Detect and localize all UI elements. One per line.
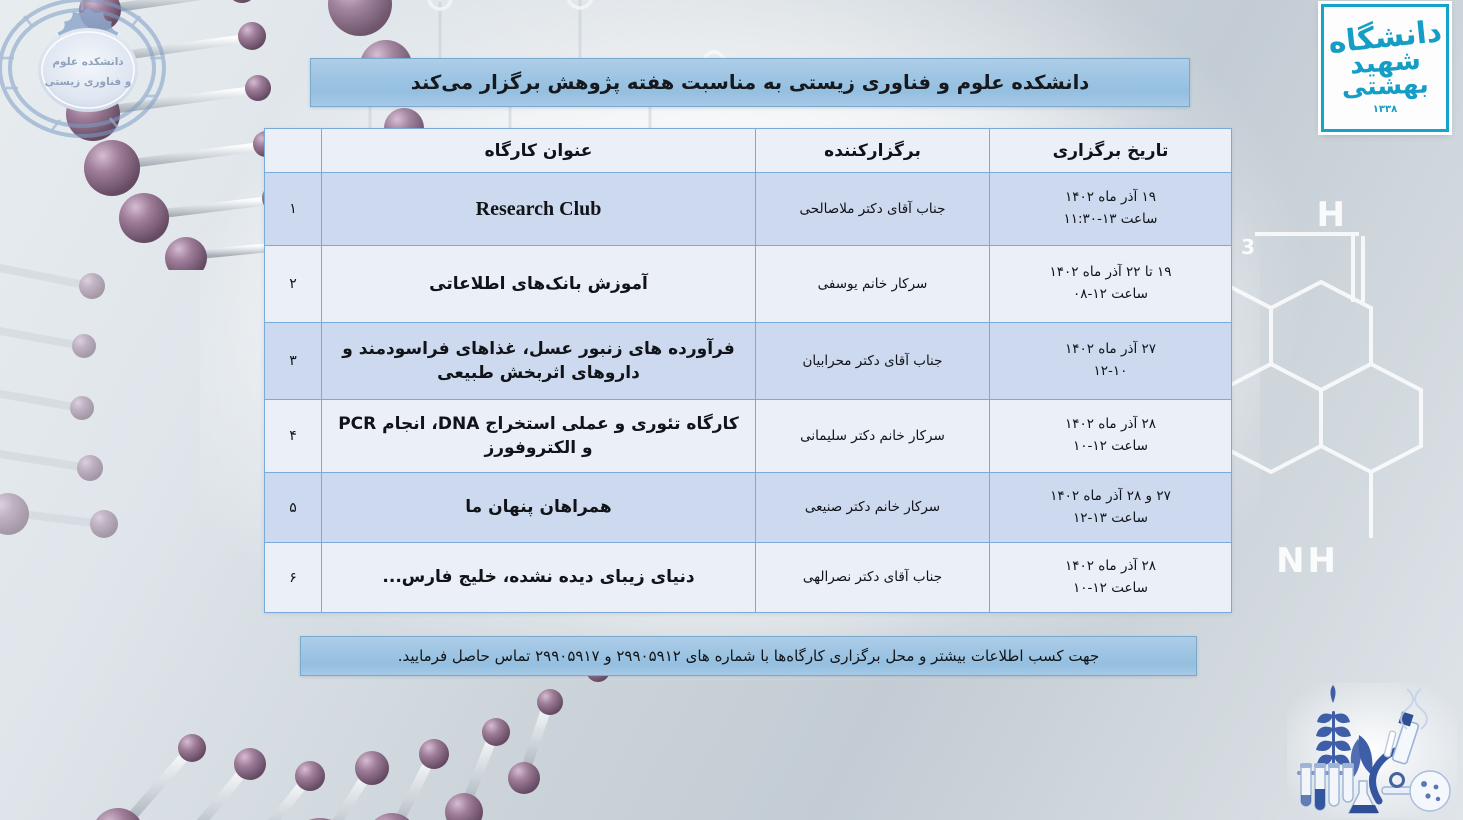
cell-date: ۲۸ آذر ماه ۱۴۰۲ ساعت ۱۲-۱۰ — [990, 400, 1232, 473]
cell-date: ۱۹ تا ۲۲ آذر ماه ۱۴۰۲ ساعت ۱۲-۰۸ — [990, 246, 1232, 323]
cell-presenter: سرکار خانم دکتر صنیعی — [756, 473, 990, 543]
date-line-2: ساعت ۱۲-۱۰ — [998, 578, 1223, 600]
biotech-illustration-logo — [1287, 683, 1457, 818]
column-header-presenter: برگزارکننده — [756, 129, 990, 173]
table-row: ۱۹ تا ۲۲ آذر ماه ۱۴۰۲ ساعت ۱۲-۰۸ سرکار خ… — [265, 246, 1232, 323]
date-line-2: ساعت ۱۳-۱۱:۳۰ — [998, 209, 1223, 231]
date-line-1: ۲۸ آذر ماه ۱۴۰۲ — [998, 556, 1223, 578]
table-row: ۲۸ آذر ماه ۱۴۰۲ ساعت ۱۲-۱۰ سرکار خانم دک… — [265, 400, 1232, 473]
cell-title: Research Club — [322, 173, 756, 246]
university-logo: دانشگاه شهید بهشتی ۱۳۳۸ — [1321, 4, 1449, 132]
faculty-seal-line2: و فناوری زیستی — [45, 76, 132, 88]
header-banner-text: دانشکده علوم و فناوری زیستی به مناسبت هف… — [411, 71, 1090, 94]
cell-title: دنیای زیبای دیده نشده، خلیج فارس... — [322, 543, 756, 613]
cell-date: ۱۹ آذر ماه ۱۴۰۲ ساعت ۱۳-۱۱:۳۰ — [990, 173, 1232, 246]
university-logo-year: ۱۳۳۸ — [1373, 105, 1397, 115]
column-header-date: تاریخ برگزاری — [990, 129, 1232, 173]
cell-row-number: ۳ — [265, 323, 322, 400]
cell-presenter: سرکار خانم یوسفی — [756, 246, 990, 323]
date-line-1: ۲۸ آذر ماه ۱۴۰۲ — [998, 414, 1223, 436]
table-row: ۲۷ آذر ماه ۱۴۰۲ ۱۲-۱۰ جناب آقای دکتر محر… — [265, 323, 1232, 400]
header-banner: دانشکده علوم و فناوری زیستی به مناسبت هف… — [310, 58, 1190, 107]
table-row: ۲۸ آذر ماه ۱۴۰۲ ساعت ۱۲-۱۰ جناب آقای دکت… — [265, 543, 1232, 613]
svg-text:NH: NH — [1276, 541, 1339, 581]
cell-row-number: ۲ — [265, 246, 322, 323]
column-header-num — [265, 129, 322, 173]
cell-presenter: جناب آقای دکتر نصرالهی — [756, 543, 990, 613]
cell-icon — [1410, 771, 1450, 811]
svg-text:H: H — [1317, 195, 1345, 235]
faculty-seal-logo: دانشکده علوم و فناوری زیستی — [12, 8, 164, 136]
footer-banner-text: جهت کسب اطلاعات بیشتر و محل برگزاری کارگ… — [398, 647, 1100, 665]
poster-canvas: CH 3 H NH — [0, 0, 1463, 820]
table-row: ۲۷ و ۲۸ آذر ماه ۱۴۰۲ ساعت ۱۳-۱۲ سرکار خا… — [265, 473, 1232, 543]
table-row: ۱۹ آذر ماه ۱۴۰۲ ساعت ۱۳-۱۱:۳۰ جناب آقای … — [265, 173, 1232, 246]
date-line-1: ۲۷ و ۲۸ آذر ماه ۱۴۰۲ — [998, 486, 1223, 508]
svg-text:3: 3 — [1241, 235, 1255, 259]
date-line-1: ۱۹ آذر ماه ۱۴۰۲ — [998, 187, 1223, 209]
university-logo-calligraphy: دانشگاه شهید بهشتی ۱۳۳۸ — [1324, 7, 1446, 129]
column-header-title: عنوان کارگاه — [322, 129, 756, 173]
workshop-table: تاریخ برگزاری برگزارکننده عنوان کارگاه ۱… — [264, 128, 1232, 613]
faculty-seal-text: دانشکده علوم و فناوری زیستی — [12, 8, 164, 136]
table-body: ۱۹ آذر ماه ۱۴۰۲ ساعت ۱۳-۱۱:۳۰ جناب آقای … — [265, 173, 1232, 613]
cell-title: فرآورده های زنبور عسل، غذاهای فراسودمند … — [322, 323, 756, 400]
cell-date: ۲۷ و ۲۸ آذر ماه ۱۴۰۲ ساعت ۱۳-۱۲ — [990, 473, 1232, 543]
cell-date: ۲۷ آذر ماه ۱۴۰۲ ۱۲-۱۰ — [990, 323, 1232, 400]
cell-title: آموزش بانک‌های اطلاعاتی — [322, 246, 756, 323]
cell-presenter: جناب آقای دکتر ملاصالحی — [756, 173, 990, 246]
cell-title: کارگاه تئوری و عملی استخراج DNA، انجام P… — [322, 400, 756, 473]
cell-row-number: ۶ — [265, 543, 322, 613]
cell-row-number: ۵ — [265, 473, 322, 543]
date-line-2: ۱۲-۱۰ — [998, 361, 1223, 383]
cell-row-number: ۴ — [265, 400, 322, 473]
cell-title: همراهان پنهان ما — [322, 473, 756, 543]
faculty-seal-line1: دانشکده علوم — [52, 56, 123, 68]
cell-date: ۲۸ آذر ماه ۱۴۰۲ ساعت ۱۲-۱۰ — [990, 543, 1232, 613]
table-header: تاریخ برگزاری برگزارکننده عنوان کارگاه — [265, 129, 1232, 173]
date-line-2: ساعت ۱۲-۰۸ — [998, 284, 1223, 306]
dna-helix-decoration-middle — [0, 230, 260, 560]
date-line-1: ۱۹ تا ۲۲ آذر ماه ۱۴۰۲ — [998, 262, 1223, 284]
cell-presenter: سرکار خانم دکتر سلیمانی — [756, 400, 990, 473]
cell-presenter: جناب آقای دکتر محرابیان — [756, 323, 990, 400]
footer-banner: جهت کسب اطلاعات بیشتر و محل برگزاری کارگ… — [300, 636, 1197, 676]
university-logo-line3: بهشتی — [1341, 71, 1429, 99]
table-header-row: تاریخ برگزاری برگزارکننده عنوان کارگاه — [265, 129, 1232, 173]
date-line-2: ساعت ۱۳-۱۲ — [998, 508, 1223, 530]
date-line-1: ۲۷ آذر ماه ۱۴۰۲ — [998, 339, 1223, 361]
cell-row-number: ۱ — [265, 173, 322, 246]
date-line-2: ساعت ۱۲-۱۰ — [998, 436, 1223, 458]
workshop-table-container: تاریخ برگزاری برگزارکننده عنوان کارگاه ۱… — [265, 128, 1232, 613]
